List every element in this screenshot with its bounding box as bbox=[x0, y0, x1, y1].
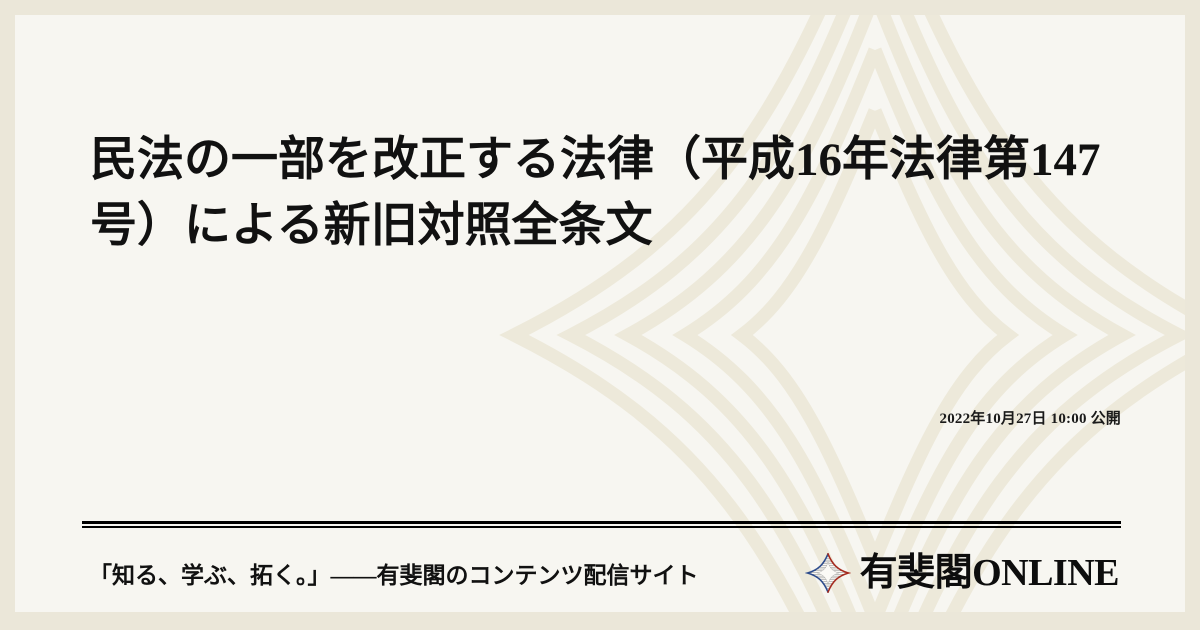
divider-rule-thick bbox=[82, 521, 1121, 524]
site-tagline: 「知る、学ぶ、拓く。」——有斐閣のコンテンツ配信サイト bbox=[82, 556, 699, 590]
page-title: 民法の一部を改正する法律（平成16年法律第147号）による新旧対照全条文 bbox=[90, 128, 1125, 260]
card-content: 民法の一部を改正する法律（平成16年法律第147号）による新旧対照全条文 202… bbox=[15, 15, 1185, 612]
yuhikaku-diamond-icon bbox=[805, 553, 851, 593]
card-panel: 民法の一部を改正する法律（平成16年法律第147号）による新旧対照全条文 202… bbox=[15, 15, 1185, 612]
site-logo[interactable]: 有斐閣ONLINE bbox=[805, 553, 1121, 593]
brand-wordmark: 有斐閣ONLINE bbox=[860, 554, 1119, 592]
card-footer: 「知る、学ぶ、拓く。」——有斐閣のコンテンツ配信サイト bbox=[82, 543, 1121, 603]
published-date: 2022年10月27日 10:00 公開 bbox=[15, 407, 1121, 428]
divider-rule-thin bbox=[82, 526, 1121, 528]
share-card: 民法の一部を改正する法律（平成16年法律第147号）による新旧対照全条文 202… bbox=[0, 0, 1200, 630]
footer-divider bbox=[82, 521, 1121, 528]
